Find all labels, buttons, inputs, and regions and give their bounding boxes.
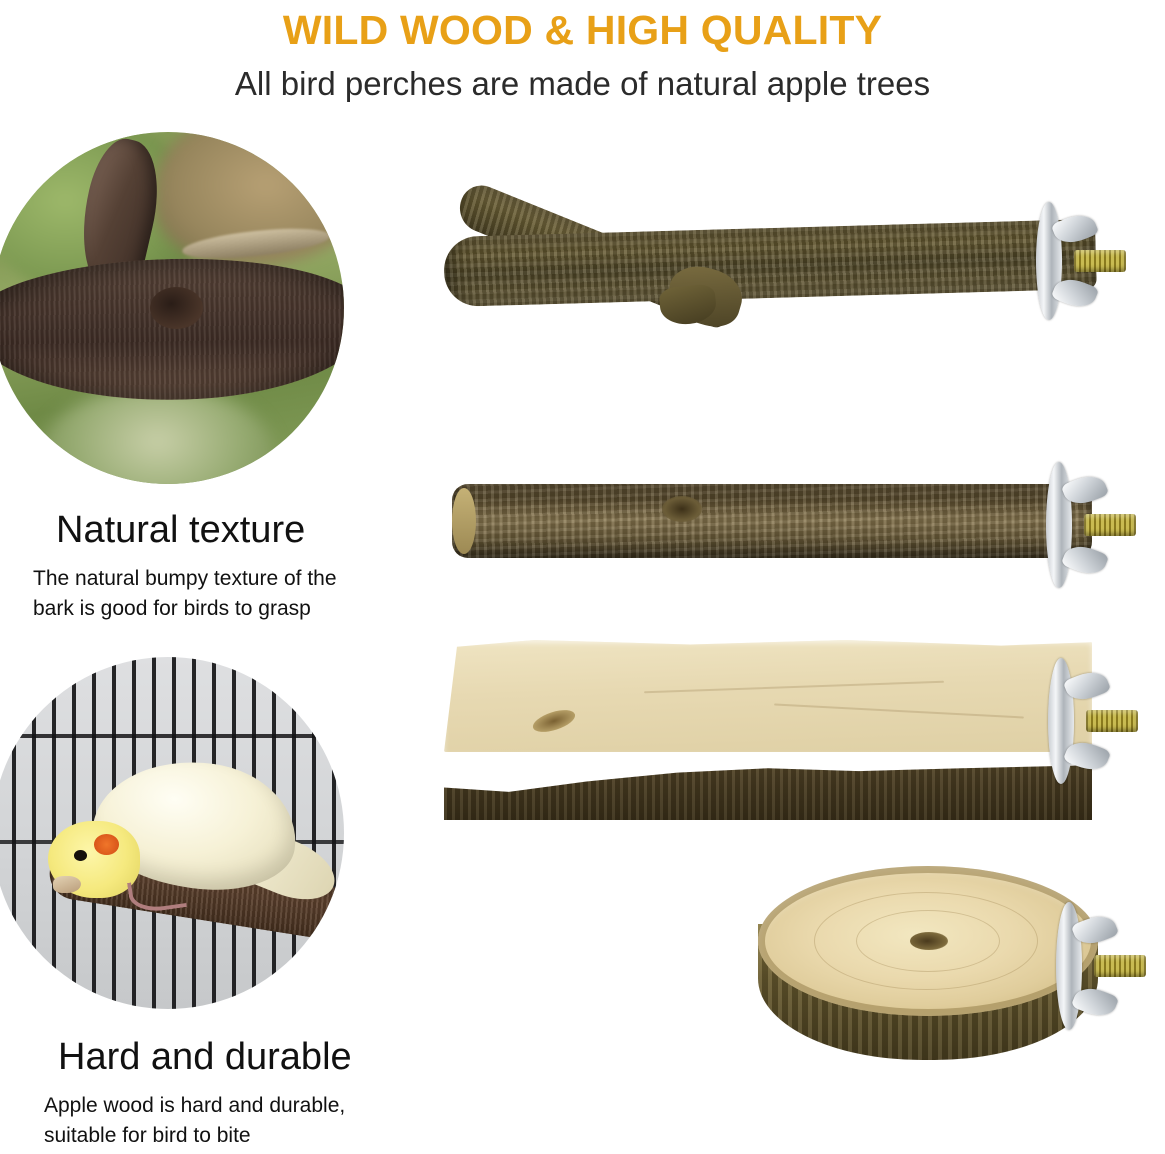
page-subtitle: All bird perches are made of natural app… <box>0 56 1165 106</box>
main-branch <box>0 251 344 407</box>
threaded-bolt <box>1074 250 1126 272</box>
feature-body: The natural bumpy texture of the bark is… <box>33 564 373 624</box>
mounting-hardware <box>1046 462 1142 588</box>
feature-title: Hard and durable <box>58 1035 400 1079</box>
feature-body: Apple wood is hard and durable, suitable… <box>44 1091 384 1151</box>
feature-hard-and-durable: Hard and durable Apple wood is hard and … <box>0 657 400 1151</box>
disc-center-knot <box>910 932 948 950</box>
mounting-hardware <box>1056 902 1152 1030</box>
foliage-blur-bottom <box>41 385 273 484</box>
cage-rail-top <box>0 734 344 738</box>
threaded-bolt <box>1084 514 1136 536</box>
round-disc-perch <box>752 866 1152 1116</box>
bark-texture-illustration <box>0 132 344 484</box>
bird-cheek-patch <box>94 834 119 855</box>
cockatiel <box>48 759 301 921</box>
threaded-bolt <box>1086 710 1138 732</box>
feature-title: Natural texture <box>56 508 400 552</box>
mounting-flange <box>1046 462 1072 588</box>
cockatiel-on-perch-photo <box>0 657 344 1009</box>
product-infographic: WILD WOOD & HIGH QUALITY All bird perche… <box>0 0 1165 1154</box>
straight-branch-perch <box>452 462 1142 592</box>
bark-texture-photo <box>0 132 344 484</box>
header: WILD WOOD & HIGH QUALITY All bird perche… <box>0 0 1165 106</box>
flat-platform-perch <box>444 640 1144 820</box>
branch-cut-end <box>452 488 476 554</box>
bird-cage-illustration <box>0 657 344 1009</box>
threaded-bolt <box>1094 955 1146 977</box>
mounting-hardware <box>1048 658 1144 784</box>
mounting-flange <box>1056 902 1082 1030</box>
mounting-flange <box>1048 658 1074 784</box>
page-title: WILD WOOD & HIGH QUALITY <box>0 0 1165 56</box>
branch-shaft <box>452 484 1092 558</box>
mounting-hardware <box>1036 202 1132 320</box>
platform-bark-edge <box>444 746 1092 820</box>
feature-natural-texture: Natural texture The natural bumpy textur… <box>0 132 400 624</box>
branch-knot <box>662 496 702 522</box>
forked-branch-perch <box>432 190 1132 420</box>
mounting-flange <box>1036 202 1062 320</box>
bark-knot <box>150 287 203 329</box>
platform-top-surface <box>444 640 1092 752</box>
bird-foot <box>127 875 187 915</box>
